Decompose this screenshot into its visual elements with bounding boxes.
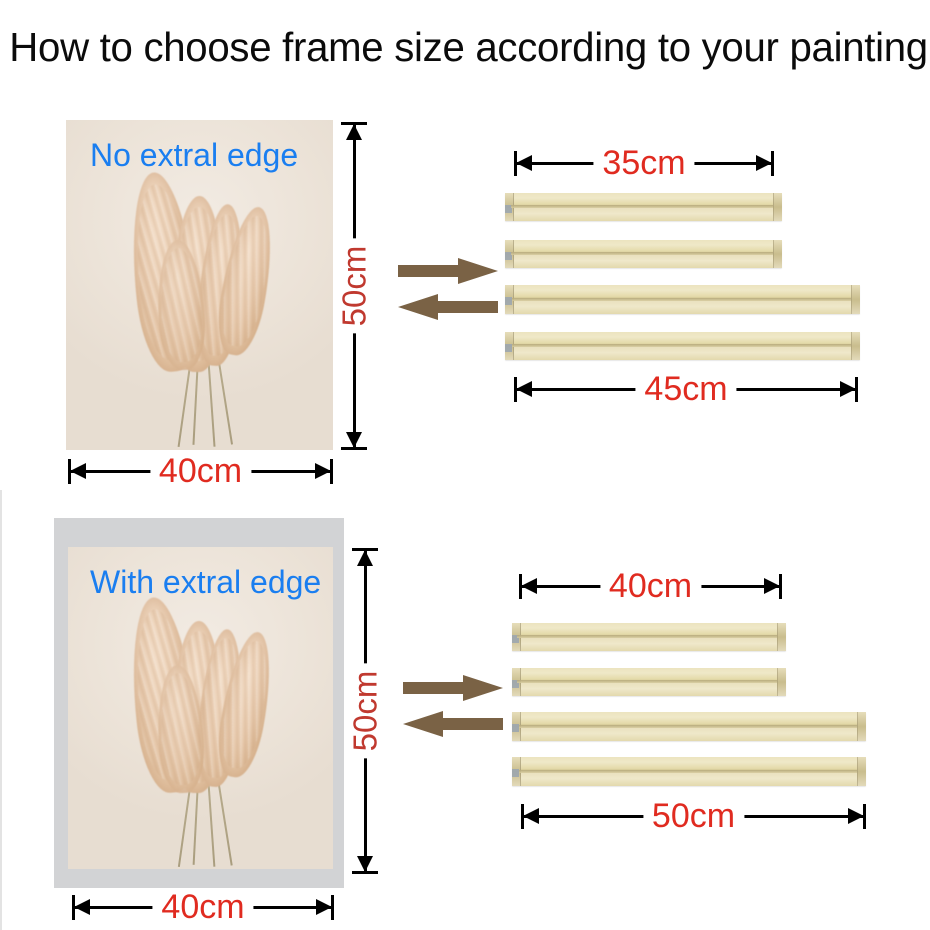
dimension-long-bar-bottom: 50cm <box>521 803 866 829</box>
arrow-left-brown-icon <box>403 711 503 737</box>
dimension-height-bottom: 50cm <box>352 548 378 874</box>
dimension-height-label: 50cm <box>338 239 371 334</box>
arrow-left-icon <box>74 899 90 915</box>
arrow-down-icon <box>346 432 362 448</box>
arrow-left-icon <box>516 381 532 397</box>
frame-bar-short-2 <box>512 668 786 696</box>
frame-bar-short-2 <box>505 240 782 268</box>
exchange-arrows-top <box>398 258 498 328</box>
dimension-long-bar-label: 50cm <box>643 799 744 833</box>
arrow-right-icon <box>756 155 772 171</box>
frame-bar-long-2 <box>505 332 860 360</box>
dimension-width-label: 40cm <box>152 890 253 924</box>
frame-bar-short-1 <box>505 193 782 221</box>
dimension-width-top: 40cm <box>68 458 333 484</box>
infographic-page: How to choose frame size according to yo… <box>0 0 930 930</box>
arrow-right-icon <box>764 578 780 594</box>
dimension-short-bar-top: 35cm <box>514 150 774 176</box>
dimension-width-label: 40cm <box>150 454 251 488</box>
arrow-left-icon <box>521 578 537 594</box>
arrow-left-icon <box>516 155 532 171</box>
dimension-long-bar-top: 45cm <box>514 376 858 402</box>
arrow-left-brown-icon <box>398 294 498 320</box>
callout-no-extra-edge: No extral edge <box>90 138 298 172</box>
painting-image-bottom: With extral edge <box>68 547 333 869</box>
exchange-arrows-bottom <box>403 675 503 745</box>
painting-image-top: No extral edge <box>66 120 333 450</box>
page-title: How to choose frame size according to yo… <box>9 24 920 71</box>
arrow-right-icon <box>315 463 331 479</box>
arrow-left-icon <box>523 808 539 824</box>
frame-bar-long-2 <box>512 757 866 786</box>
frame-bar-long-1 <box>505 285 860 314</box>
dimension-long-bar-label: 45cm <box>635 372 736 406</box>
left-edge-divider <box>0 490 2 930</box>
arrow-left-icon <box>70 463 86 479</box>
arrow-right-icon <box>840 381 856 397</box>
arrow-right-brown-icon <box>403 675 503 701</box>
dimension-short-bar-label: 35cm <box>593 146 694 180</box>
arrow-up-icon <box>357 550 373 566</box>
arrow-up-icon <box>346 124 362 140</box>
frame-bar-short-1 <box>512 623 786 651</box>
dimension-short-bar-bottom: 40cm <box>519 573 782 599</box>
arrow-right-icon <box>316 899 332 915</box>
dimension-height-label: 50cm <box>349 664 382 759</box>
dimension-short-bar-label: 40cm <box>600 569 701 603</box>
arrow-right-icon <box>848 808 864 824</box>
dimension-height-top: 50cm <box>341 122 367 450</box>
frame-bar-long-1 <box>512 712 866 741</box>
callout-with-extra-edge: With extral edge <box>90 565 321 599</box>
arrow-down-icon <box>357 856 373 872</box>
arrow-right-brown-icon <box>398 258 498 284</box>
dimension-width-bottom: 40cm <box>72 894 334 920</box>
